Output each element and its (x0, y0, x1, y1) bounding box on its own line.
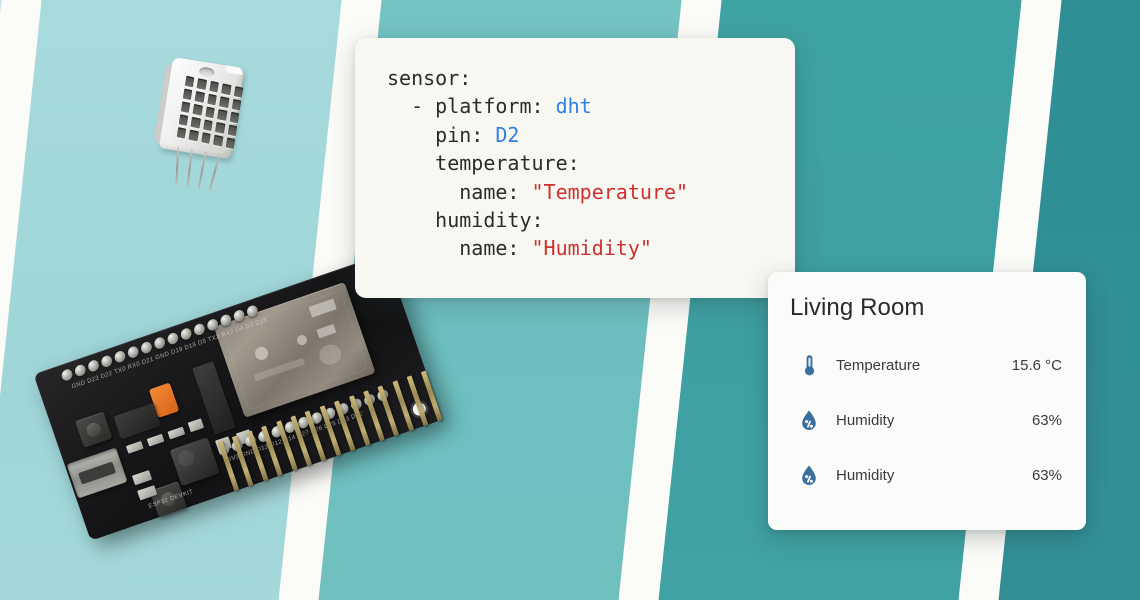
sensor-pins (169, 146, 227, 194)
entity-row-humidity-2[interactable]: Humidity 63% (790, 448, 1064, 503)
yaml-string-temperature: "Temperature" (532, 180, 689, 204)
entity-row-humidity-1[interactable]: Humidity 63% (790, 393, 1064, 448)
reset-button-component (75, 412, 112, 448)
entity-value: 63% (1032, 412, 1062, 429)
yaml-line-4: name: "Temperature" (387, 180, 688, 204)
yaml-value-platform: dht (556, 94, 592, 118)
entity-value: 15.6 °C (1012, 357, 1062, 374)
water-percent-icon (792, 409, 826, 433)
yaml-line-6: name: "Humidity" (387, 236, 652, 260)
sensor-mount-hole (199, 66, 215, 77)
yaml-line-3: temperature: (387, 151, 580, 175)
yaml-code-block: sensor: - platform: dht pin: D2 temperat… (387, 64, 795, 263)
sensor-grille (177, 76, 244, 149)
entity-row-temperature[interactable]: Temperature 15.6 °C (790, 338, 1064, 393)
yaml-line-2: pin: D2 (387, 123, 519, 147)
regulator-ic (114, 403, 162, 439)
entity-value: 63% (1032, 467, 1062, 484)
yaml-string-humidity: "Humidity" (532, 236, 652, 260)
thermometer-icon (792, 354, 826, 378)
yaml-value-pin: D2 (495, 123, 519, 147)
entity-name: Humidity (826, 467, 1032, 484)
card-title: Living Room (790, 294, 1064, 322)
sensor-notch (225, 65, 243, 75)
yaml-code-card: sensor: - platform: dht pin: D2 temperat… (355, 38, 795, 298)
entity-name: Humidity (826, 412, 1032, 429)
yaml-line-0: sensor: (387, 66, 471, 90)
screenshot-stage: GND D23 D22 TX0 RX0 D21 GND D19 D18 D5 T… (0, 0, 1140, 600)
water-percent-icon (792, 464, 826, 488)
yaml-line-5: humidity: (387, 208, 544, 232)
micro-usb-port (67, 448, 128, 499)
home-assistant-entities-card[interactable]: Living Room Temperature 15.6 °C Hum (768, 272, 1086, 530)
yaml-line-1: - platform: dht (387, 94, 592, 118)
entity-name: Temperature (826, 357, 1012, 374)
sensor-body (159, 57, 245, 159)
usb-uart-chip (170, 437, 220, 486)
